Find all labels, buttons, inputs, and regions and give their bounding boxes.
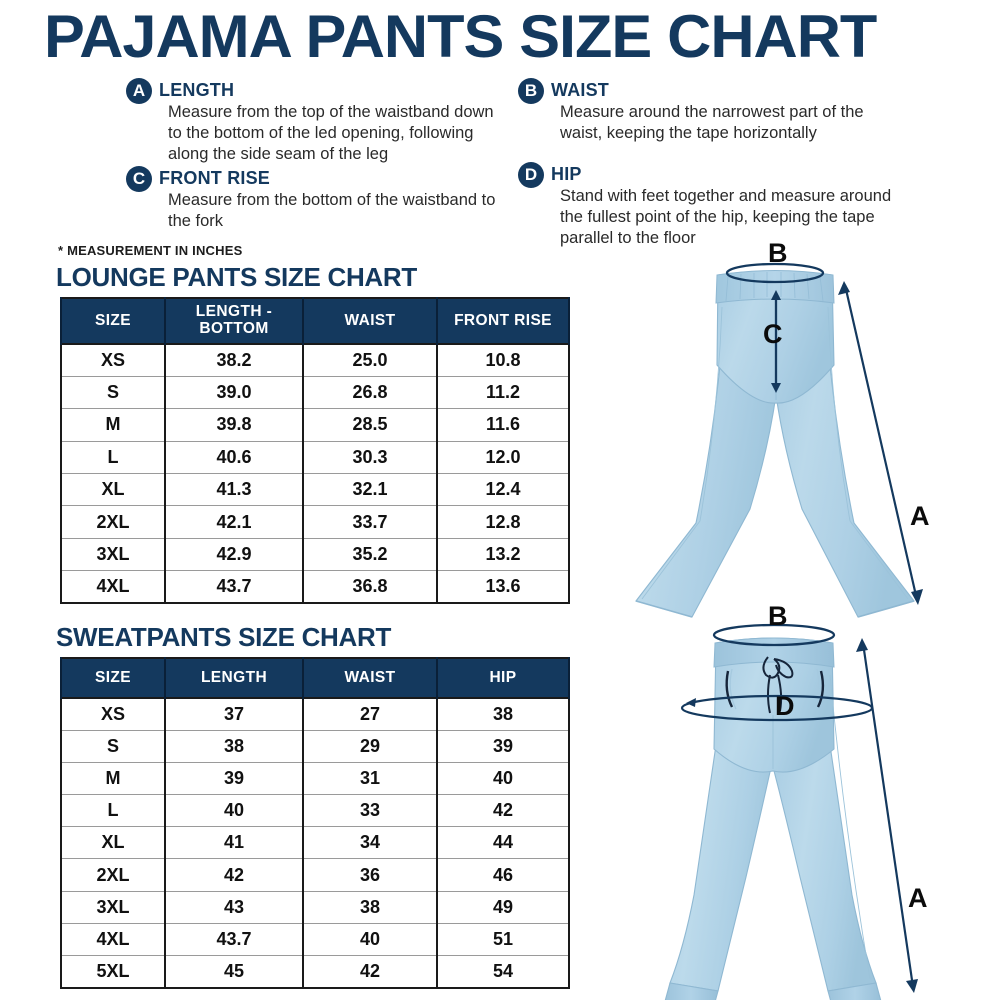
sweatpants-table-body: XS372738S382939M393140L403342XL4134442XL…	[61, 698, 569, 988]
jogger-left-leg	[670, 745, 772, 991]
cell-value: 42	[437, 795, 569, 827]
column-header-length: LENGTH	[165, 658, 303, 698]
cell-size: XS	[61, 698, 165, 730]
size-chart-page: PAJAMA PANTS SIZE CHART A LENGTH Measure…	[0, 0, 1000, 1000]
cell-size: 2XL	[61, 506, 165, 538]
cell-value: 40	[303, 923, 437, 955]
table-row: 3XL42.935.213.2	[61, 538, 569, 570]
cell-value: 32.1	[303, 474, 437, 506]
cell-value: 38	[303, 891, 437, 923]
cell-value: 35.2	[303, 538, 437, 570]
jogger-length-measure-arrow	[856, 638, 918, 993]
cell-value: 10.8	[437, 344, 569, 376]
cell-size: 5XL	[61, 956, 165, 988]
badge-d-icon: D	[518, 162, 544, 188]
cell-value: 37	[165, 698, 303, 730]
cell-value: 54	[437, 956, 569, 988]
page-title: PAJAMA PANTS SIZE CHART	[44, 6, 993, 68]
guide-label-front-rise: FRONT RISE	[159, 168, 270, 189]
guide-label-waist: WAIST	[551, 80, 609, 101]
cell-value: 13.6	[437, 571, 569, 603]
cell-value: 41.3	[165, 474, 303, 506]
cell-value: 39	[165, 762, 303, 794]
section-title-sweatpants: SWEATPANTS SIZE CHART	[56, 622, 391, 653]
guide-text-front-rise: Measure from the bottom of the waistband…	[168, 190, 498, 232]
cell-size: XL	[61, 827, 165, 859]
cell-size: S	[61, 376, 165, 408]
cell-size: 4XL	[61, 571, 165, 603]
cell-value: 43.7	[165, 923, 303, 955]
lounge-marker-a: A	[910, 503, 930, 530]
column-header-length-bottom: LENGTH - BOTTOM	[165, 298, 303, 344]
cell-value: 44	[437, 827, 569, 859]
cell-value: 51	[437, 923, 569, 955]
cell-value: 43	[165, 891, 303, 923]
cell-size: XS	[61, 344, 165, 376]
lounge-marker-b: B	[768, 240, 788, 267]
cell-value: 29	[303, 730, 437, 762]
table-row: 4XL43.736.813.6	[61, 571, 569, 603]
cell-size: 2XL	[61, 859, 165, 891]
column-header-hip: HIP	[437, 658, 569, 698]
cell-value: 42	[165, 859, 303, 891]
cell-value: 33	[303, 795, 437, 827]
cell-value: 12.8	[437, 506, 569, 538]
table-header-row: SIZE LENGTH - BOTTOM WAIST FRONT RISE	[61, 298, 569, 344]
column-header-size: SIZE	[61, 658, 165, 698]
table-row: XS38.225.010.8	[61, 344, 569, 376]
table-header-row: SIZE LENGTH WAIST HIP	[61, 658, 569, 698]
column-header-waist: WAIST	[303, 658, 437, 698]
section-title-lounge: LOUNGE PANTS SIZE CHART	[56, 262, 417, 293]
cell-size: 3XL	[61, 891, 165, 923]
jogger-marker-a: A	[908, 885, 928, 912]
cell-value: 39.0	[165, 376, 303, 408]
cell-size: S	[61, 730, 165, 762]
cell-size: 4XL	[61, 923, 165, 955]
cell-value: 30.3	[303, 441, 437, 473]
jogger-right-leg	[772, 745, 876, 991]
cell-value: 40.6	[165, 441, 303, 473]
table-row: L403342	[61, 795, 569, 827]
cell-value: 38.2	[165, 344, 303, 376]
cell-size: L	[61, 441, 165, 473]
cell-value: 42.1	[165, 506, 303, 538]
cell-size: XL	[61, 474, 165, 506]
guide-text-length: Measure from the top of the waistband do…	[168, 102, 498, 164]
cell-value: 27	[303, 698, 437, 730]
column-header-line1: LENGTH -	[196, 303, 272, 320]
column-header-front-rise: FRONT RISE	[437, 298, 569, 344]
cell-value: 40	[165, 795, 303, 827]
table-row: 4XL43.74051	[61, 923, 569, 955]
table-row: XL413444	[61, 827, 569, 859]
jogger-marker-d: D	[775, 693, 795, 720]
pants-illustrations: B C A	[600, 245, 1000, 1000]
badge-c-icon: C	[126, 166, 152, 192]
lounge-pants-size-table: SIZE LENGTH - BOTTOM WAIST FRONT RISE XS…	[60, 297, 570, 604]
cell-value: 49	[437, 891, 569, 923]
guide-label-length: LENGTH	[159, 80, 234, 101]
cell-value: 11.6	[437, 409, 569, 441]
cell-value: 46	[437, 859, 569, 891]
table-row: S382939	[61, 730, 569, 762]
cell-value: 28.5	[303, 409, 437, 441]
cell-value: 12.4	[437, 474, 569, 506]
cell-value: 45	[165, 956, 303, 988]
guide-text-hip: Stand with feet together and measure aro…	[560, 186, 900, 248]
cell-value: 38	[165, 730, 303, 762]
column-header-line2: BOTTOM	[199, 320, 268, 337]
cell-value: 39	[437, 730, 569, 762]
lounge-table-body: XS38.225.010.8S39.026.811.2M39.828.511.6…	[61, 344, 569, 603]
cell-value: 31	[303, 762, 437, 794]
cell-value: 13.2	[437, 538, 569, 570]
cell-size: M	[61, 409, 165, 441]
guide-label-hip: HIP	[551, 164, 582, 185]
cell-value: 36.8	[303, 571, 437, 603]
jogger-marker-b: B	[768, 603, 788, 630]
cell-value: 11.2	[437, 376, 569, 408]
column-header-waist: WAIST	[303, 298, 437, 344]
table-row: XS372738	[61, 698, 569, 730]
table-row: 3XL433849	[61, 891, 569, 923]
cell-value: 36	[303, 859, 437, 891]
lounge-pants-illustration	[600, 245, 1000, 645]
cell-value: 33.7	[303, 506, 437, 538]
cell-value: 12.0	[437, 441, 569, 473]
lounge-marker-c: C	[763, 321, 783, 348]
cell-value: 40	[437, 762, 569, 794]
sweatpants-size-table: SIZE LENGTH WAIST HIP XS372738S382939M39…	[60, 657, 570, 989]
badge-a-icon: A	[126, 78, 152, 104]
table-row: 2XL42.133.712.8	[61, 506, 569, 538]
guide-text-waist: Measure around the narrowest part of the…	[560, 102, 910, 144]
table-row: 5XL454254	[61, 956, 569, 988]
table-row: M39.828.511.6	[61, 409, 569, 441]
hip-measure-arrowhead	[686, 698, 696, 707]
table-row: XL41.332.112.4	[61, 474, 569, 506]
column-header-size: SIZE	[61, 298, 165, 344]
cell-size: 3XL	[61, 538, 165, 570]
table-row: 2XL423646	[61, 859, 569, 891]
cell-value: 34	[303, 827, 437, 859]
cell-size: L	[61, 795, 165, 827]
cell-value: 39.8	[165, 409, 303, 441]
cell-value: 42	[303, 956, 437, 988]
cell-value: 25.0	[303, 344, 437, 376]
table-row: M393140	[61, 762, 569, 794]
cell-value: 38	[437, 698, 569, 730]
cell-size: M	[61, 762, 165, 794]
table-row: L40.630.312.0	[61, 441, 569, 473]
cell-value: 41	[165, 827, 303, 859]
measurement-unit-note: * MEASUREMENT IN INCHES	[58, 243, 242, 258]
cell-value: 43.7	[165, 571, 303, 603]
cell-value: 26.8	[303, 376, 437, 408]
table-row: S39.026.811.2	[61, 376, 569, 408]
badge-b-icon: B	[518, 78, 544, 104]
cell-value: 42.9	[165, 538, 303, 570]
jogger-pants-illustration	[600, 595, 1000, 1000]
